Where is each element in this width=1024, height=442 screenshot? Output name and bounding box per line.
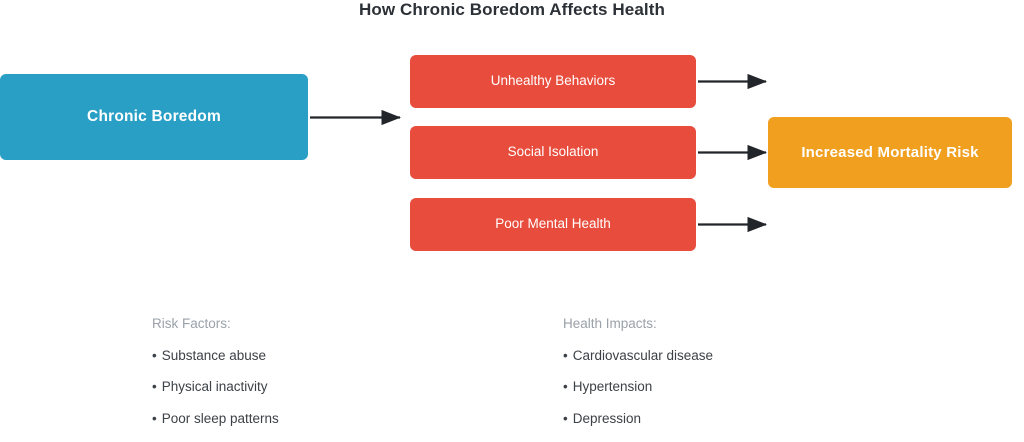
risk-factors-column: Risk Factors: •Substance abuse •Physical… [152,316,482,442]
health-impacts-column: Health Impacts: •Cardiovascular disease … [563,316,893,442]
bullet-icon: • [563,379,568,395]
list-item: •Cardiovascular disease [563,348,893,364]
list-item: •Poor sleep patterns [152,411,482,427]
bullet-icon: • [152,411,157,427]
list-item-label: Cardiovascular disease [573,348,713,363]
bullet-icon: • [152,348,157,364]
health-impacts-list: •Cardiovascular disease •Hypertension •D… [563,348,893,427]
list-item-label: Depression [573,411,641,426]
diagram-canvas: How Chronic Boredom Affects Health Chron… [0,0,1024,427]
health-impacts-heading: Health Impacts: [563,316,893,332]
list-item: •Substance abuse [152,348,482,364]
node-chronic-boredom[interactable]: Chronic Boredom [0,74,308,160]
node-social-isolation[interactable]: Social Isolation [410,126,696,179]
list-item: •Hypertension [563,379,893,395]
node-poor-mental-health[interactable]: Poor Mental Health [410,198,696,251]
bullet-icon: • [152,379,157,395]
list-item-label: Substance abuse [162,348,266,363]
list-item-label: Poor sleep patterns [162,411,279,426]
bullet-icon: • [563,348,568,364]
diagram-title: How Chronic Boredom Affects Health [0,0,1024,20]
list-item: •Physical inactivity [152,379,482,395]
risk-factors-list: •Substance abuse •Physical inactivity •P… [152,348,482,427]
list-item: •Depression [563,411,893,427]
risk-factors-heading: Risk Factors: [152,316,482,332]
node-unhealthy-behaviors[interactable]: Unhealthy Behaviors [410,55,696,108]
list-item-label: Hypertension [573,379,653,394]
bullet-icon: • [563,411,568,427]
list-item-label: Physical inactivity [162,379,268,394]
node-increased-mortality-risk[interactable]: Increased Mortality Risk [768,117,1012,188]
